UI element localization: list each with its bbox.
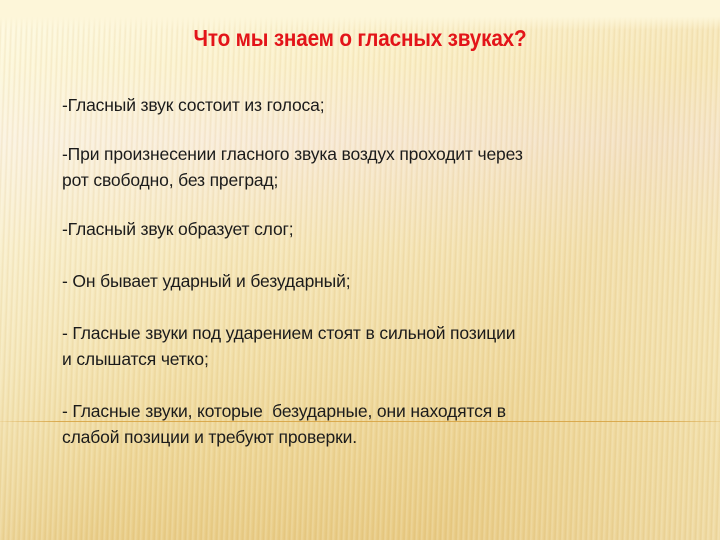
page-title: Что мы знаем о гласных звуках?	[36, 25, 684, 52]
slide-canvas: Что мы знаем о гласных звуках? -Гласный …	[0, 0, 720, 540]
body-paragraph-1: -Гласный звук состоит из голоса;	[62, 92, 702, 118]
body-paragraph-4: - Он бывает ударный и безударный;	[62, 268, 702, 294]
horizontal-divider	[0, 421, 720, 422]
body-paragraph-2: -При произнесении гласного звука воздух …	[62, 141, 702, 193]
slide-body: -Гласный звук состоит из голоса; -При пр…	[62, 92, 702, 450]
body-paragraph-3: -Гласный звук образует слог;	[62, 216, 702, 242]
body-paragraph-6: - Гласные звуки, которые безударные, они…	[62, 398, 702, 450]
body-paragraph-5: - Гласные звуки под ударением стоят в си…	[62, 320, 702, 372]
